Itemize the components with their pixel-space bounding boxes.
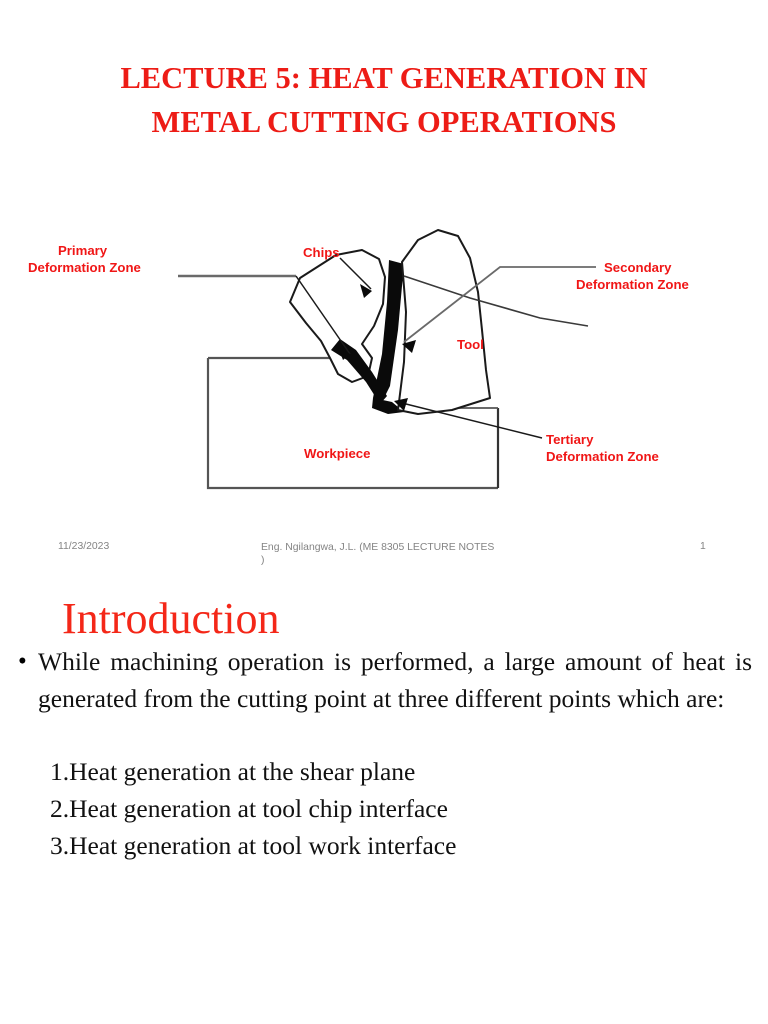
footer-attribution: Eng. Ngilangwa, J.L. (ME 8305 LECTURE NO… [261,541,561,567]
footer-date: 11/23/2023 [58,541,109,552]
intro-bullet-list: • While machining operation is performed… [16,644,752,717]
page-title-line-1: LECTURE 5: HEAT GENERATION IN [34,56,734,100]
page-title-line-2: METAL CUTTING OPERATIONS [34,100,734,144]
bullet-marker-icon: • [18,645,27,679]
slide-title-and-diagram: LECTURE 5: HEAT GENERATION IN METAL CUTT… [0,0,768,578]
numbered-list: 1.Heat generation at the shear plane 2.H… [50,753,750,864]
slide-footer: 11/23/2023 Eng. Ngilangwa, J.L. (ME 8305… [0,538,768,572]
chip-outline [290,250,385,382]
slide-introduction: Introduction • While machining operation… [0,578,768,1024]
label-primary-line1: Primary [58,243,108,258]
label-tertiary-line1: Tertiary [546,432,594,447]
list-item: 2.Heat generation at tool chip interface [50,790,750,827]
list-item: 3.Heat generation at tool work interface [50,827,750,864]
label-tool: Tool [457,337,484,352]
list-item: 1.Heat generation at the shear plane [50,753,750,790]
page-title: LECTURE 5: HEAT GENERATION IN METAL CUTT… [34,56,734,144]
tool-outline [398,230,490,414]
footer-attribution-line-2: ) [261,555,264,566]
metal-cutting-diagram-svg: Primary Deformation Zone Chips Secondary… [0,222,768,518]
footer-page-number: 1 [700,541,706,552]
footer-attribution-line-1: Eng. Ngilangwa, J.L. (ME 8305 LECTURE NO… [261,542,494,553]
label-secondary-line2: Deformation Zone [576,277,689,292]
label-primary-line2: Deformation Zone [28,260,141,275]
label-secondary-line1: Secondary [604,260,672,275]
label-chips: Chips [303,245,340,260]
list-item: • While machining operation is performed… [16,644,752,717]
label-workpiece: Workpiece [304,446,370,461]
intro-bullet-text: While machining operation is performed, … [38,644,752,717]
section-heading: Introduction [62,594,280,644]
metal-cutting-diagram: Primary Deformation Zone Chips Secondary… [0,222,768,518]
label-tertiary-line2: Deformation Zone [546,449,659,464]
